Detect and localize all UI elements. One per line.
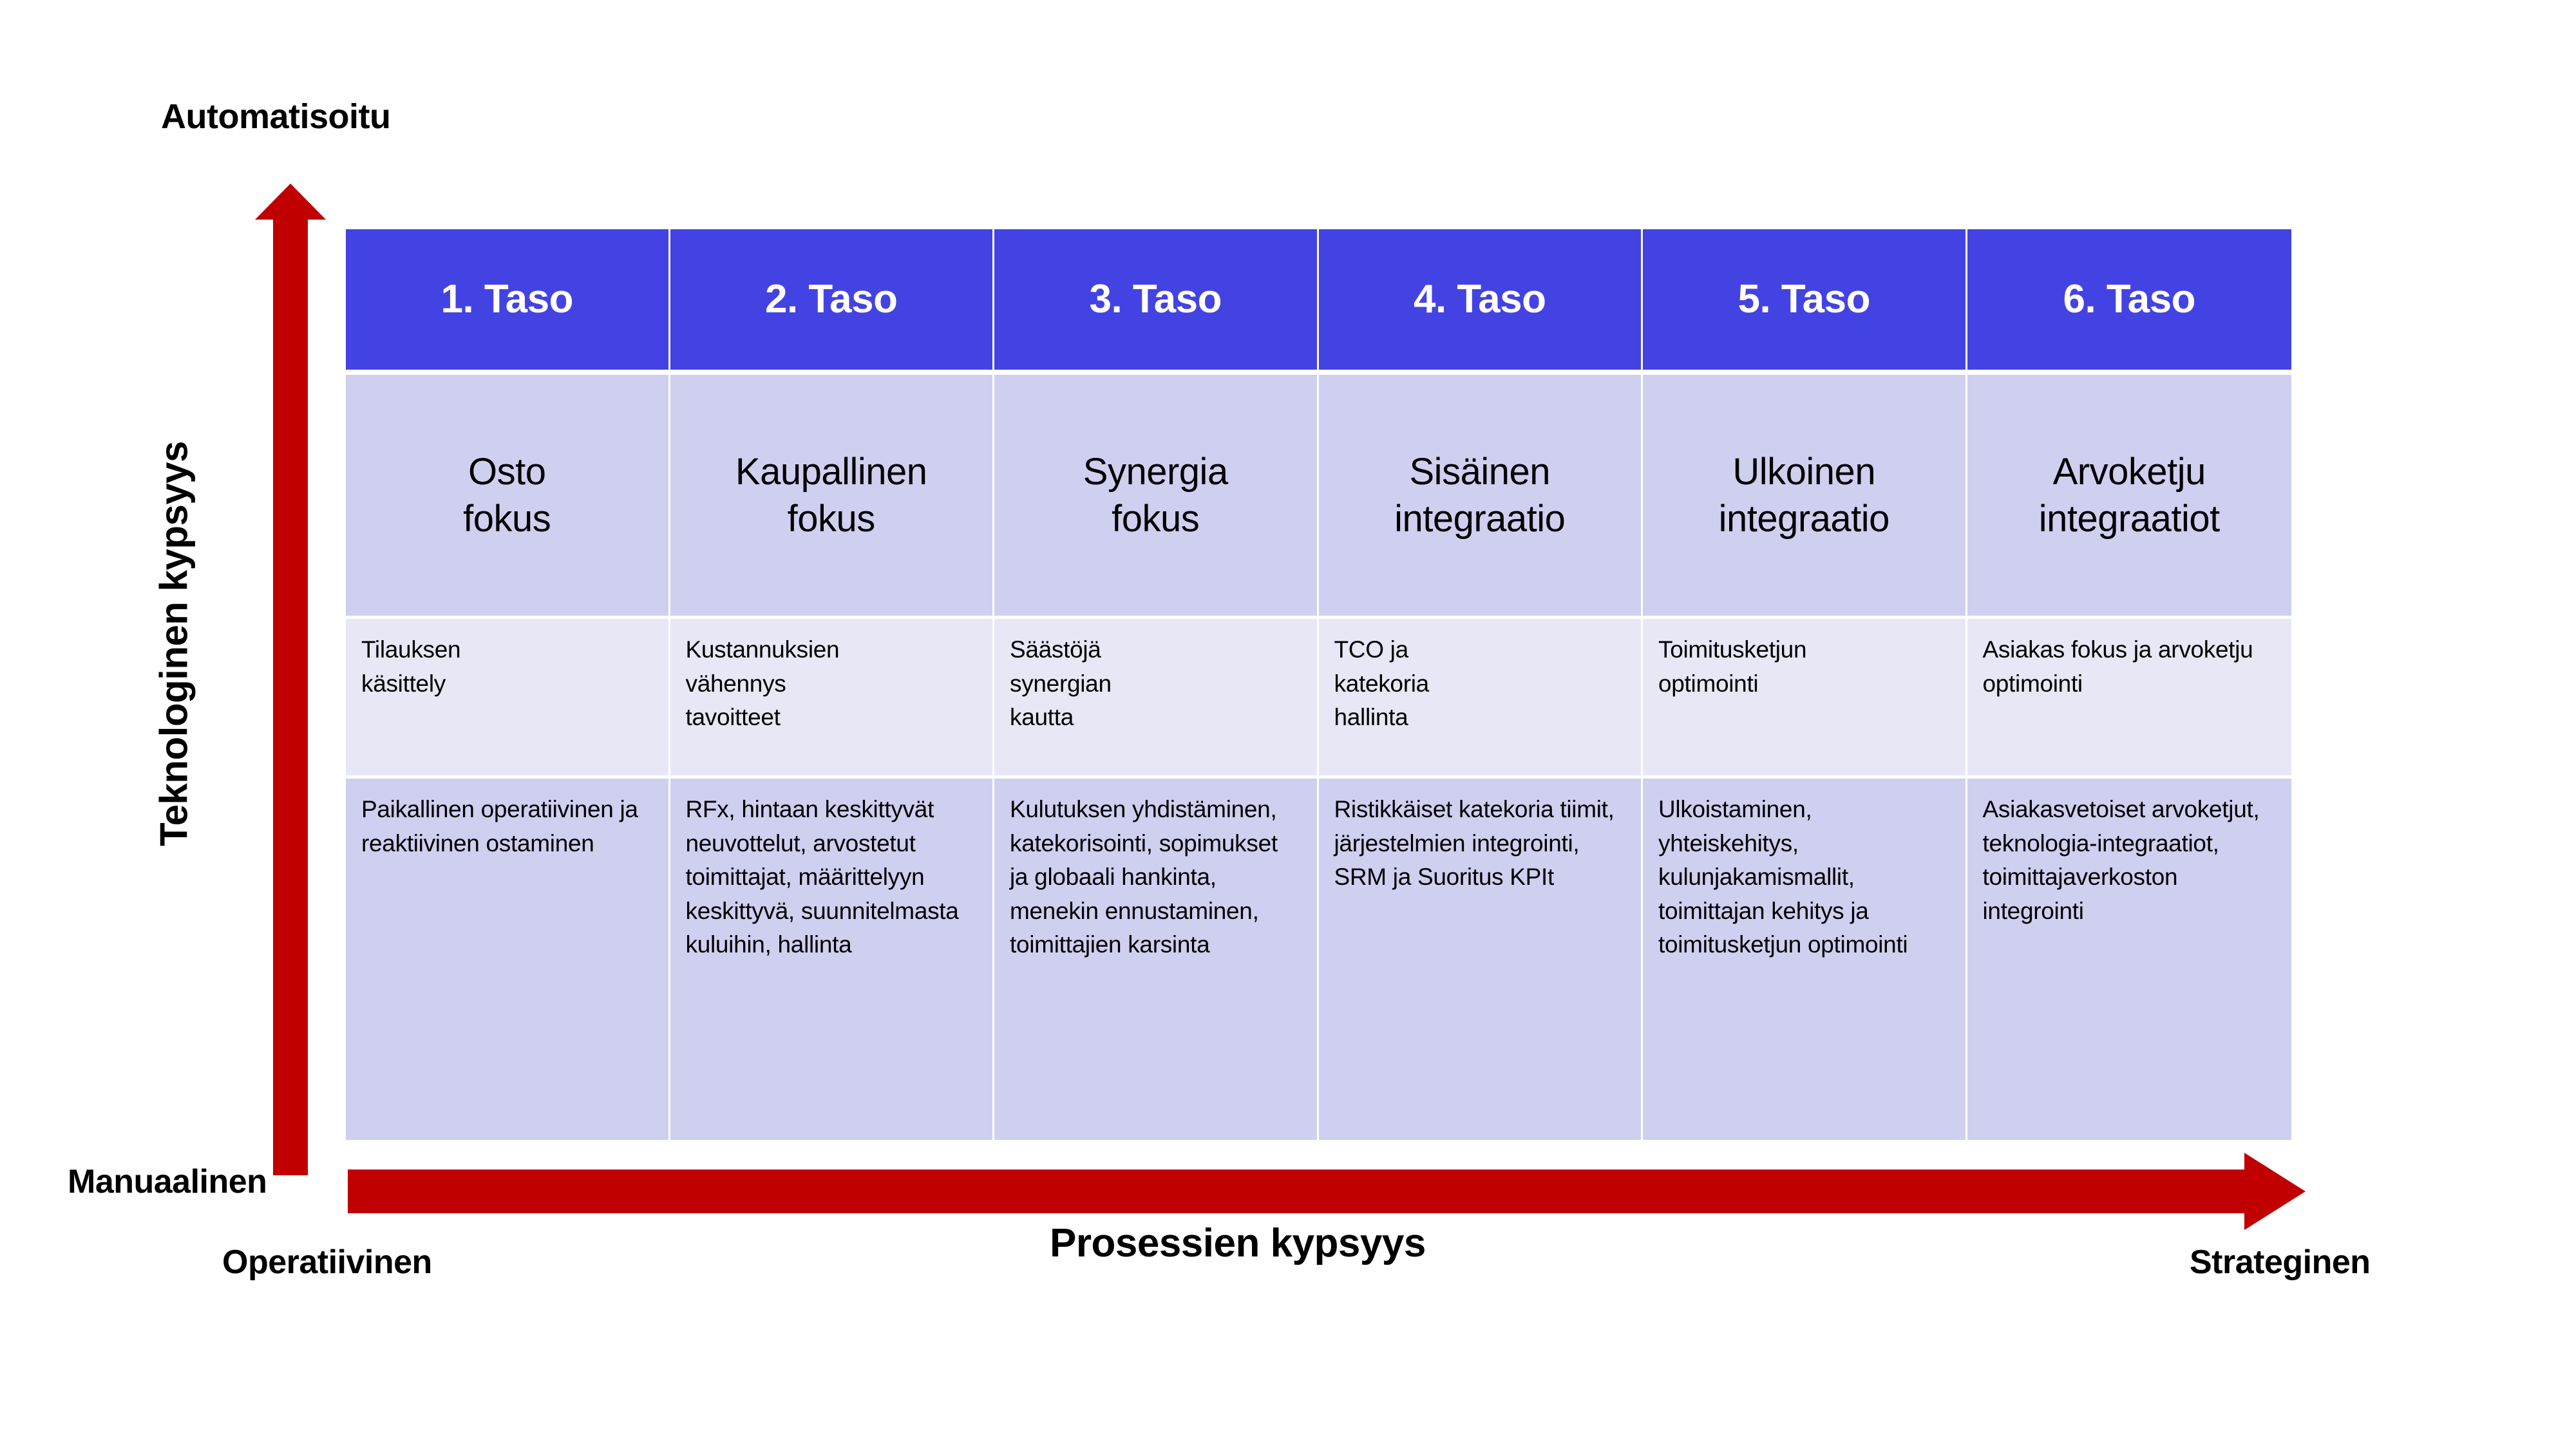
outcome-cell-3: Säästöjä synergian kautta — [994, 616, 1319, 775]
outcome-text-2: Kustannuksien vähennys tavoitteet — [670, 619, 857, 735]
detail-text-6: Asiakasvetoiset arvoketjut, teknologia-i… — [1967, 779, 2292, 928]
focus-cell-3: Synergia fokus — [994, 370, 1319, 616]
outcome-text-3: Säästöjä synergian kautta — [994, 619, 1128, 735]
focus-cell-2: Kaupallinen fokus — [670, 370, 995, 616]
outcome-text-5: Toimitusketjun optimointi — [1643, 619, 1823, 701]
level-label-4: 4. Taso — [1414, 278, 1546, 321]
focus-cell-4: Sisäinen integraatio — [1319, 370, 1643, 616]
level-header-cell-5: 5. Taso — [1643, 229, 1967, 370]
detail-text-3: Kulutuksen yhdistäminen, katekorisointi,… — [994, 779, 1317, 962]
x-axis-left-label: Operatiivinen — [222, 1243, 432, 1282]
detail-cell-2: RFx, hintaan keskittyvät neuvottelut, ar… — [670, 775, 995, 1140]
outcome-cell-2: Kustannuksien vähennys tavoitteet — [670, 616, 995, 775]
outcome-cell-6: Asiakas fokus ja arvoketju optimointi — [1967, 616, 2292, 775]
level-header-cell-1: 1. Taso — [346, 229, 670, 370]
outcome-cell-4: TCO ja katekoria hallinta — [1319, 616, 1643, 775]
detail-text-1: Paikallinen operatiivinen ja reaktiivine… — [346, 779, 668, 860]
level-label-5: 5. Taso — [1738, 278, 1870, 321]
level-label-6: 6. Taso — [2063, 278, 2195, 321]
level-header-cell-3: 3. Taso — [994, 229, 1319, 370]
matrix-row-levels: 1. Taso 2. Taso 3. Taso 4. Taso 5. Taso … — [346, 229, 2291, 370]
detail-text-2: RFx, hintaan keskittyvät neuvottelut, ar… — [670, 779, 993, 962]
detail-cell-3: Kulutuksen yhdistäminen, katekorisointi,… — [994, 775, 1319, 1140]
focus-cell-5: Ulkoinen integraatio — [1643, 370, 1967, 616]
level-label-2: 2. Taso — [765, 278, 898, 321]
focus-cell-6: Arvoketju integraatiot — [1967, 370, 2292, 616]
detail-cell-4: Ristikkäiset katekoria tiimit, järjestel… — [1319, 775, 1643, 1140]
detail-text-5: Ulkoistaminen, yhteiskehitys, kulunjakam… — [1643, 779, 1965, 962]
level-header-cell-2: 2. Taso — [670, 229, 995, 370]
x-axis-right-label: Strateginen — [2190, 1243, 2371, 1282]
y-axis-arrow-icon — [255, 184, 326, 1175]
detail-cell-5: Ulkoistaminen, yhteiskehitys, kulunjakam… — [1643, 775, 1967, 1140]
focus-label-6: Arvoketju integraatiot — [2039, 448, 2220, 542]
matrix-row-outcome: Tilauksen käsittely Kustannuksien vähenn… — [346, 616, 2291, 775]
y-axis-bottom-label: Manuaalinen — [68, 1162, 267, 1201]
outcome-text-6: Asiakas fokus ja arvoketju optimointi — [1967, 619, 2292, 701]
y-axis-top-label: Automatisoitu — [161, 97, 390, 137]
focus-label-2: Kaupallinen fokus — [735, 448, 927, 542]
outcome-cell-5: Toimitusketjun optimointi — [1643, 616, 1967, 775]
focus-label-1: Osto fokus — [463, 448, 551, 542]
level-header-cell-6: 6. Taso — [1967, 229, 2292, 370]
focus-cell-1: Osto fokus — [346, 370, 670, 616]
detail-cell-1: Paikallinen operatiivinen ja reaktiivine… — [346, 775, 670, 1140]
outcome-cell-1: Tilauksen käsittely — [346, 616, 670, 775]
x-axis-arrow-icon — [348, 1153, 2306, 1230]
detail-cell-6: Asiakasvetoiset arvoketjut, teknologia-i… — [1967, 775, 2292, 1140]
y-axis-title: Teknologinen kypsyys — [152, 354, 196, 934]
focus-label-5: Ulkoinen integraatio — [1719, 448, 1889, 542]
outcome-text-4: TCO ja katekoria hallinta — [1319, 619, 1446, 735]
maturity-matrix: 1. Taso 2. Taso 3. Taso 4. Taso 5. Taso … — [346, 229, 2291, 1140]
x-axis-title: Prosessien kypsyys — [1050, 1220, 1426, 1266]
focus-label-3: Synergia fokus — [1083, 448, 1228, 542]
level-header-cell-4: 4. Taso — [1319, 229, 1643, 370]
level-label-3: 3. Taso — [1089, 278, 1222, 321]
matrix-row-detail: Paikallinen operatiivinen ja reaktiivine… — [346, 775, 2291, 1140]
level-label-1: 1. Taso — [440, 278, 573, 321]
matrix-row-focus: Osto fokus Kaupallinen fokus Synergia fo… — [346, 370, 2291, 616]
focus-label-4: Sisäinen integraatio — [1394, 448, 1565, 542]
outcome-text-1: Tilauksen käsittely — [346, 619, 477, 701]
detail-text-4: Ristikkäiset katekoria tiimit, järjestel… — [1319, 779, 1642, 895]
